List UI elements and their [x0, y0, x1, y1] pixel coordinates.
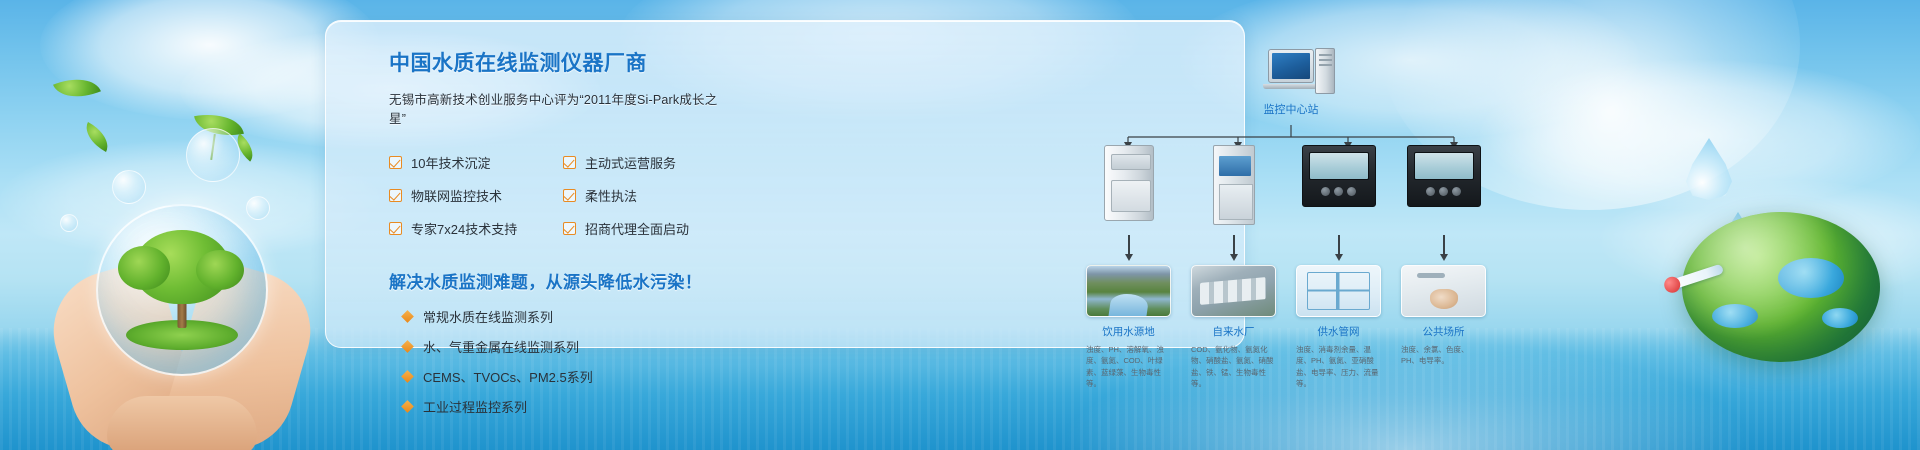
hand-wrist: [107, 396, 257, 450]
arrow-cell: [1191, 235, 1276, 255]
controller-screen: [1414, 152, 1474, 180]
scene-title: 饮用水源地: [1086, 324, 1171, 339]
scene-caption: 浊度、PH、溶解氧、浊度、氨氮、COD、叶绿素、蓝绿藻、生物毒性等。: [1086, 344, 1171, 389]
product-line-list: 常规水质在线监测系列 水、气重金属在线监测系列 CEMS、TVOCs、PM2.5…: [389, 307, 734, 416]
feature-label: 10年技术沉淀: [411, 153, 490, 172]
diamond-bullet-icon: [401, 370, 414, 383]
water-plant-photo: [1191, 265, 1276, 317]
scene-caption: COD、氨化物、氨氮化物、硝酸盐、氨氮、硝酸盐、铁、锰、生物毒性等。: [1191, 344, 1276, 389]
controller-key: [1426, 187, 1435, 196]
controller-key: [1321, 187, 1330, 196]
pipe-network-photo: [1296, 265, 1381, 317]
bubble: [112, 170, 146, 204]
pc-tower: [1315, 48, 1335, 94]
controller-panel-icon: [1302, 145, 1376, 207]
feature-checklist: 10年技术沉淀 主动式运营服务 物联网监控技术 柔性执法 专家7x24技术支持 …: [389, 153, 734, 238]
checkbox-checked-icon: [389, 222, 402, 235]
product-line-label: CEMS、TVOCs、PM2.5系列: [423, 367, 593, 386]
scene-title: 公共场所: [1401, 324, 1486, 339]
controller-key: [1334, 187, 1343, 196]
feature-item: 物联网监控技术: [389, 186, 559, 205]
feature-item: 招商代理全面启动: [563, 219, 734, 238]
checkbox-checked-icon: [389, 156, 402, 169]
device-cell: [1296, 145, 1381, 225]
product-line-label: 常规水质在线监测系列: [423, 307, 553, 326]
river-source-photo: [1086, 265, 1171, 317]
device-cell: [1401, 145, 1486, 225]
monitoring-center-node: 监控中心站: [1246, 49, 1336, 117]
arrow-row: [1086, 235, 1486, 255]
feature-item: 专家7x24技术支持: [389, 219, 559, 238]
arrow-cell: [1086, 235, 1171, 255]
controller-keypad: [1309, 187, 1369, 196]
monitor-screen: [1272, 53, 1310, 79]
list-item[interactable]: CEMS、TVOCs、PM2.5系列: [389, 367, 734, 386]
water-analyzer-cabinet-icon: [1104, 145, 1154, 221]
checkbox-checked-icon: [563, 222, 576, 235]
feature-item: 柔性执法: [563, 186, 734, 205]
banner-text-column: 中国水质在线监测仪器厂商 无锡市高新技术创业服务中心评为“2011年度Si-Pa…: [389, 47, 734, 416]
arrow-cell: [1296, 235, 1381, 255]
hands-holding-tree-illustration: [62, 220, 302, 450]
monitor-stand: [1263, 84, 1319, 89]
bubble: [186, 128, 240, 182]
controller-panel-icon: [1407, 145, 1481, 207]
scene-cell[interactable]: 自来水厂 COD、氨化物、氨氮化物、硝酸盐、氨氮、硝酸盐、铁、锰、生物毒性等。: [1191, 265, 1276, 389]
scene-row: 饮用水源地 浊度、PH、溶解氧、浊度、氨氮、COD、叶绿素、蓝绿藻、生物毒性等。…: [1086, 265, 1486, 389]
monitoring-center-label: 监控中心站: [1246, 101, 1336, 117]
scene-cell[interactable]: 供水管网 浊度、消毒剂余量、温度、PH、氨氮、亚硝酸盐、电导率、压力、流量等。: [1296, 265, 1381, 389]
controller-screen: [1309, 152, 1369, 180]
checkbox-checked-icon: [563, 189, 576, 202]
arrow-down-icon: [1233, 235, 1235, 255]
controller-keypad: [1414, 187, 1474, 196]
scene-cell[interactable]: 饮用水源地 浊度、PH、溶解氧、浊度、氨氮、COD、叶绿素、蓝绿藻、生物毒性等。: [1086, 265, 1171, 389]
product-line-label: 水、气重金属在线监测系列: [423, 337, 579, 356]
device-cell: [1086, 145, 1171, 225]
bubble: [246, 196, 270, 220]
feature-item: 主动式运营服务: [563, 153, 734, 172]
monitoring-topology-diagram: 监控中心站: [1066, 39, 1506, 359]
earth-highlight: [1682, 212, 1880, 362]
feature-item: 10年技术沉淀: [389, 153, 559, 172]
page-title: 中国水质在线监测仪器厂商: [389, 47, 734, 77]
device-row: [1086, 145, 1486, 225]
feature-label: 专家7x24技术支持: [411, 219, 517, 238]
scene-caption: 浊度、余氯、色度、PH、电导率。: [1401, 344, 1486, 367]
scene-title: 供水管网: [1296, 324, 1381, 339]
arrow-cell: [1401, 235, 1486, 255]
feature-label: 招商代理全面启动: [585, 219, 689, 238]
arrow-down-icon: [1443, 235, 1445, 255]
list-item[interactable]: 水、气重金属在线监测系列: [389, 337, 734, 356]
water-bubble-globe: [96, 204, 268, 376]
section-title: 解决水质监测难题，从源头降低水污染！: [389, 268, 734, 293]
arrow-down-icon: [1128, 235, 1130, 255]
tree-crown: [134, 230, 230, 304]
diamond-bullet-icon: [401, 400, 414, 413]
sampling-cabinet-icon: [1213, 145, 1255, 225]
device-cell: [1191, 145, 1276, 225]
green-earth-illustration: [1682, 212, 1880, 362]
product-line-label: 工业过程监控系列: [423, 397, 527, 416]
feature-label: 柔性执法: [585, 186, 637, 205]
scene-caption: 浊度、消毒剂余量、温度、PH、氨氮、亚硝酸盐、电导率、压力、流量等。: [1296, 344, 1381, 389]
list-item[interactable]: 工业过程监控系列: [389, 397, 734, 416]
controller-key: [1347, 187, 1356, 196]
feature-label: 物联网监控技术: [411, 186, 502, 205]
checkbox-checked-icon: [389, 189, 402, 202]
feature-label: 主动式运营服务: [585, 153, 676, 172]
diamond-bullet-icon: [401, 310, 414, 323]
scene-title: 自来水厂: [1191, 324, 1276, 339]
controller-key: [1452, 187, 1461, 196]
scene-cell[interactable]: 公共场所 浊度、余氯、色度、PH、电导率。: [1401, 265, 1486, 389]
checkbox-checked-icon: [563, 156, 576, 169]
arrow-down-icon: [1338, 235, 1340, 255]
computer-workstation-icon: [1268, 49, 1314, 83]
diamond-bullet-icon: [401, 340, 414, 353]
page-subtitle: 无锡市高新技术创业服务中心评为“2011年度Si-Park成长之星”: [389, 89, 734, 127]
controller-key: [1439, 187, 1448, 196]
public-tap-photo: [1401, 265, 1486, 317]
list-item[interactable]: 常规水质在线监测系列: [389, 307, 734, 326]
banner-panel: 中国水质在线监测仪器厂商 无锡市高新技术创业服务中心评为“2011年度Si-Pa…: [325, 20, 1245, 348]
